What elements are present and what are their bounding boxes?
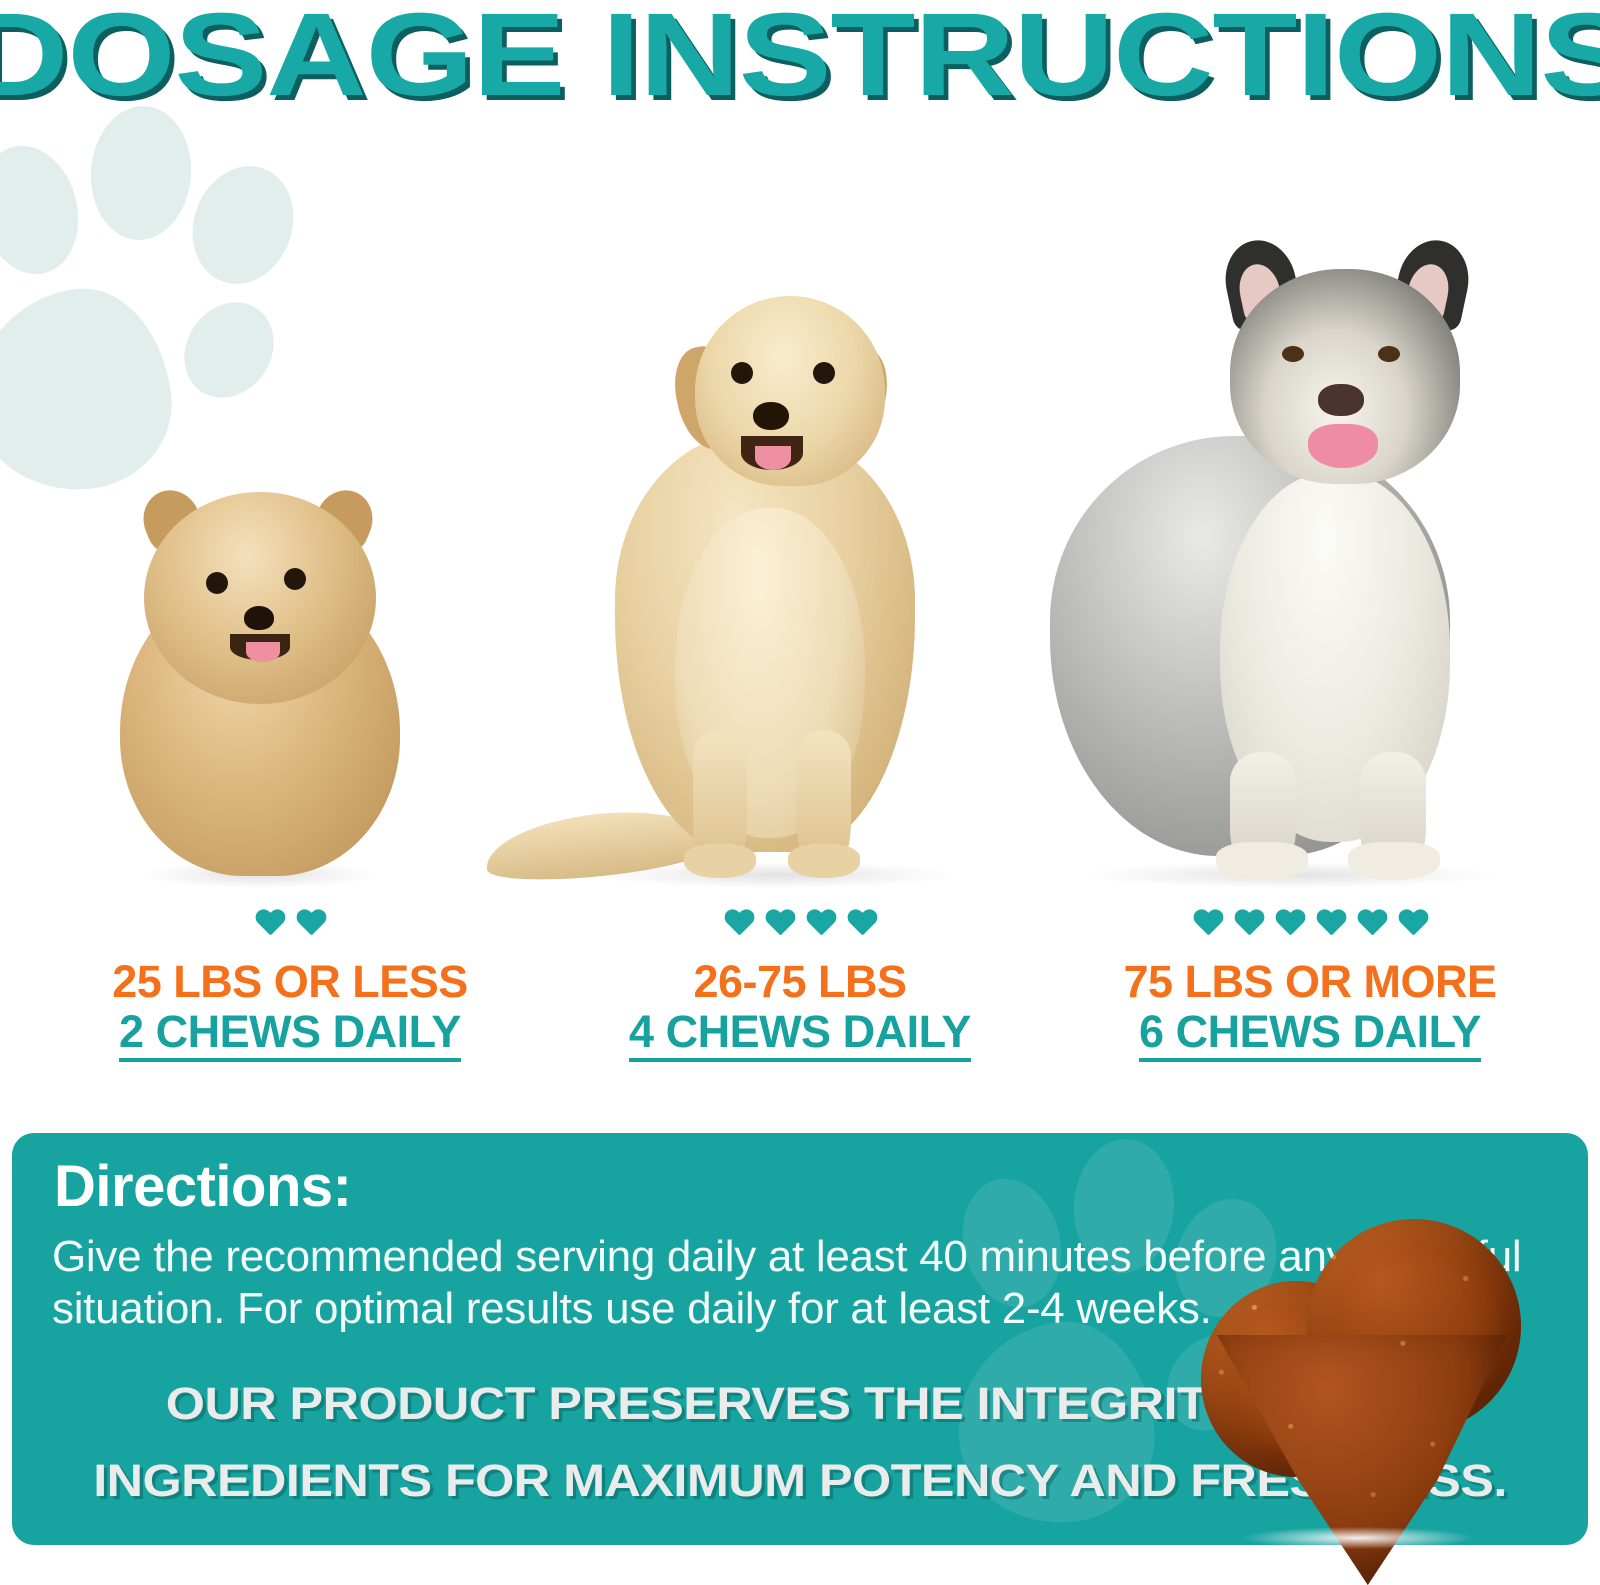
- dog-image-alaskan-malamute: [1030, 137, 1550, 882]
- retriever-paw-left: [684, 844, 756, 878]
- malamute-paw-left: [1216, 842, 1308, 880]
- heart-icon: [1275, 910, 1305, 937]
- chews-label-small: 2 CHEWS DAILY: [119, 1007, 461, 1062]
- tagline-line-2: INGREDIENTS FOR MAXIMUM POTENCY AND FRES…: [12, 1442, 1588, 1519]
- heart-icon: [1234, 910, 1264, 937]
- weight-label-large: 75 LBS OR MORE: [1050, 958, 1570, 1007]
- malamute-eye-right: [1378, 346, 1400, 362]
- pomeranian-nose: [244, 606, 274, 630]
- pomeranian-eye-right: [284, 568, 306, 590]
- retriever-eye-right: [813, 362, 835, 384]
- heart-icon: [724, 910, 754, 937]
- heart-icon: [1398, 910, 1428, 937]
- malamute-tongue: [1308, 424, 1378, 468]
- dosage-column-medium: 26-75 LBS 4 CHEWS DAILY: [560, 900, 1040, 1062]
- retriever-eye-left: [731, 362, 753, 384]
- retriever-paw-right: [788, 844, 860, 878]
- weight-label-small: 25 LBS OR LESS: [30, 958, 550, 1007]
- heart-icon: [765, 910, 795, 937]
- directions-panel: Directions: Give the recommended serving…: [12, 1133, 1588, 1545]
- dosage-column-large: 75 LBS OR MORE 6 CHEWS DAILY: [1050, 900, 1570, 1062]
- tagline: OUR PRODUCT PRESERVES THE INTEGRITY OF T…: [12, 1365, 1588, 1520]
- heart-icon: [255, 910, 285, 937]
- hearts-row-medium: [560, 900, 1040, 946]
- dosage-columns: 25 LBS OR LESS 2 CHEWS DAILY 26-75 LBS 4…: [0, 900, 1600, 1090]
- malamute-nose: [1318, 384, 1364, 416]
- pomeranian-tongue: [246, 642, 280, 662]
- pomeranian-eye-left: [206, 572, 228, 594]
- heart-icon: [1316, 910, 1346, 937]
- hearts-row-small: [30, 900, 550, 946]
- directions-body-text: Give the recommended serving daily at le…: [52, 1231, 1552, 1335]
- pomeranian-head: [144, 492, 376, 704]
- chews-label-large: 6 CHEWS DAILY: [1139, 1007, 1481, 1062]
- heart-icon: [1193, 910, 1223, 937]
- hearts-row-large: [1050, 900, 1570, 946]
- retriever-tongue: [755, 446, 791, 470]
- directions-heading: Directions:: [54, 1153, 351, 1220]
- heart-icon: [806, 910, 836, 937]
- heart-icon: [1357, 910, 1387, 937]
- dosage-column-small: 25 LBS OR LESS 2 CHEWS DAILY: [30, 900, 550, 1062]
- weight-label-medium: 26-75 LBS: [560, 958, 1040, 1007]
- tagline-line-1: OUR PRODUCT PRESERVES THE INTEGRITY OF T…: [12, 1365, 1588, 1442]
- dog-size-illustrations: [0, 120, 1600, 900]
- dog-image-golden-retriever: [545, 202, 1005, 882]
- page-title: DOSAGE INSTRUCTIONS: [0, 0, 1600, 118]
- retriever-nose: [753, 402, 789, 430]
- malamute-eye-left: [1282, 346, 1304, 362]
- dog-image-pomeranian: [110, 452, 410, 882]
- chews-label-medium: 4 CHEWS DAILY: [629, 1007, 971, 1062]
- malamute-paw-right: [1348, 842, 1440, 880]
- heart-icon: [847, 910, 877, 937]
- heart-icon: [296, 910, 326, 937]
